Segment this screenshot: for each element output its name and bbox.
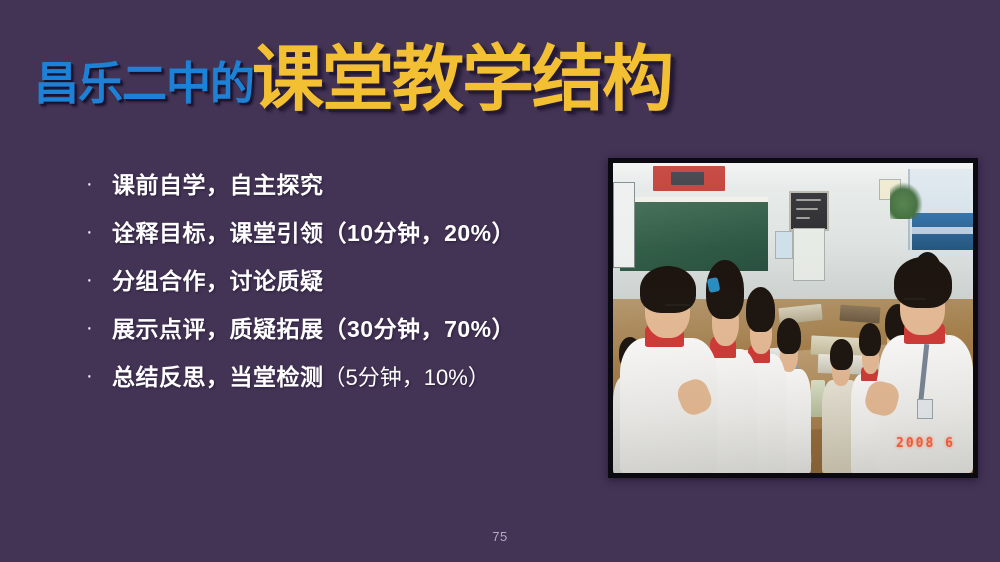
- small-blackboard: [789, 191, 829, 231]
- list-item: · 展示点评，质疑拓展（30分钟，70%）: [86, 310, 586, 358]
- glasses-icon: [904, 298, 926, 303]
- photo-canvas: 2008 6: [613, 163, 973, 473]
- bullet-dot-icon: ·: [86, 222, 112, 242]
- list-item: · 分组合作，讨论质疑: [86, 262, 586, 310]
- wall-poster: [793, 228, 825, 281]
- potted-plant: [890, 182, 922, 219]
- list-item-text: 分组合作，讨论质疑: [112, 262, 324, 296]
- list-item-text: 总结反思，当堂检测（5分钟，10%）: [112, 358, 490, 392]
- list-item-label: 展示点评，质疑拓展: [112, 316, 324, 342]
- hair: [830, 339, 853, 370]
- list-item-text: 课前自学，自主探究: [112, 166, 324, 200]
- page-number: 75: [0, 529, 1000, 544]
- list-item: · 总结反思，当堂检测（5分钟，10%）: [86, 358, 586, 406]
- slide: 昌乐二中的课堂教学结构 · 课前自学，自主探究 · 诠释目标，课堂引领（10分钟…: [0, 0, 1000, 562]
- list-item: · 诠释目标，课堂引领（10分钟，20%）: [86, 214, 586, 262]
- bullet-dot-icon: ·: [86, 174, 112, 194]
- title-prefix: 昌乐二中的: [34, 61, 254, 106]
- list-item-note: （30分钟，70%）: [324, 316, 516, 342]
- photo-datestamp: 2008 6: [896, 436, 955, 451]
- list-item-label: 诠释目标，课堂引领: [112, 220, 324, 246]
- name-badge: [917, 399, 933, 419]
- red-banner: [653, 166, 725, 191]
- list-item-note: （10分钟，20%）: [324, 220, 516, 246]
- glasses-icon: [665, 304, 690, 309]
- list-item-label: 分组合作，讨论质疑: [112, 268, 324, 294]
- list-item-label: 总结反思，当堂检测: [112, 364, 324, 390]
- wall-poster: [775, 231, 793, 259]
- list-item-text: 诠释目标，课堂引领（10分钟，20%）: [112, 214, 515, 248]
- bullet-list: · 课前自学，自主探究 · 诠释目标，课堂引领（10分钟，20%） · 分组合作…: [86, 166, 586, 406]
- bullet-dot-icon: ·: [86, 366, 112, 386]
- side-whiteboard: [613, 182, 635, 269]
- bullet-dot-icon: ·: [86, 270, 112, 290]
- title-main: 课堂教学结构: [252, 44, 672, 116]
- classroom-photo: 2008 6: [608, 158, 978, 478]
- list-item-label: 课前自学，自主探究: [112, 172, 324, 198]
- bullet-dot-icon: ·: [86, 318, 112, 338]
- page-title: 昌乐二中的课堂教学结构: [34, 24, 734, 112]
- list-item-note: （5分钟，10%）: [324, 365, 490, 390]
- student-figure: [620, 262, 717, 473]
- list-item: · 课前自学，自主探究: [86, 166, 586, 214]
- list-item-text: 展示点评，质疑拓展（30分钟，70%）: [112, 310, 515, 344]
